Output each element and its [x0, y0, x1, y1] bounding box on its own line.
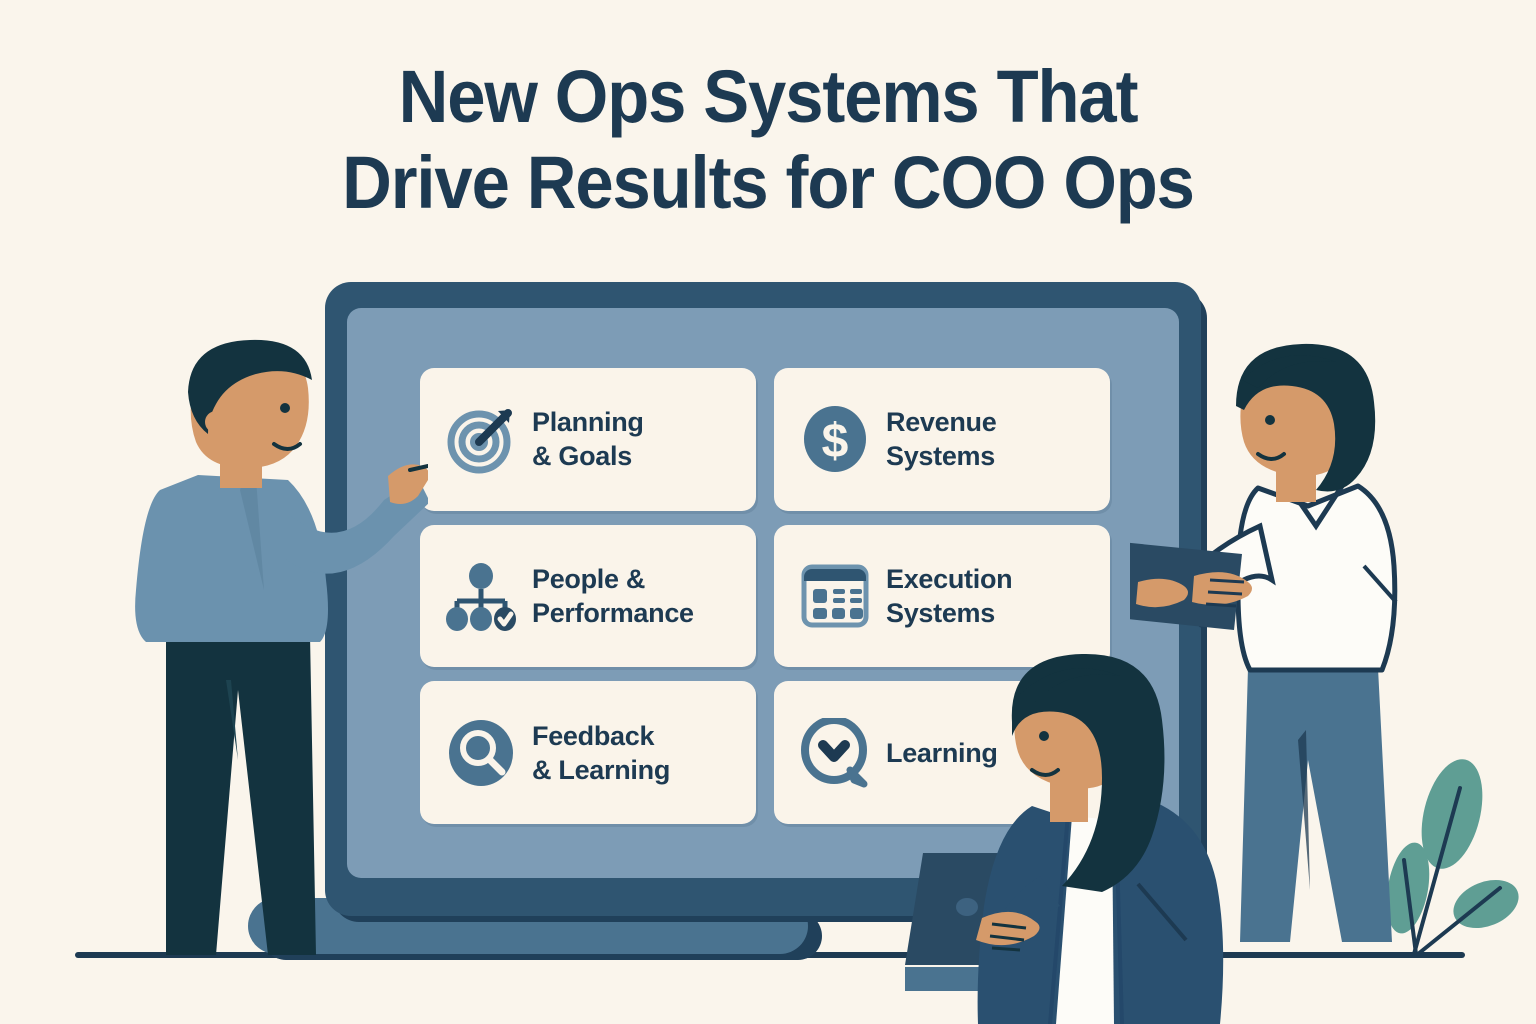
dollar-circle-icon: $ — [800, 404, 870, 474]
illustration-canvas: New Ops Systems That Drive Results for C… — [0, 0, 1536, 1024]
card-label: Execution Systems — [886, 562, 1012, 630]
card-label-line2: & Goals — [532, 439, 644, 473]
card-planning-goals[interactable]: Planning & Goals — [420, 368, 756, 511]
card-label-line1: People & — [532, 564, 645, 594]
card-label-line1: Feedback — [532, 721, 654, 751]
magnifier-circle-icon — [446, 718, 516, 788]
title-line-2: Drive Results for COO Ops — [54, 140, 1482, 226]
card-label-line2: Systems — [886, 596, 1012, 630]
card-label: Planning & Goals — [532, 405, 644, 473]
page-title: New Ops Systems That Drive Results for C… — [0, 54, 1536, 226]
card-feedback-learning[interactable]: Feedback & Learning — [420, 681, 756, 824]
card-label-line1: Planning — [532, 407, 644, 437]
kanban-board-icon — [800, 561, 870, 631]
title-line-1: New Ops Systems That — [54, 54, 1482, 140]
card-label: People & Performance — [532, 562, 694, 630]
svg-text:$: $ — [822, 415, 849, 468]
standing-man-pointing — [88, 330, 428, 970]
card-people-performance[interactable]: People & Performance — [420, 525, 756, 668]
card-label-line2: Performance — [532, 596, 694, 630]
card-label-line2: & Learning — [532, 753, 670, 787]
card-label-line1: Revenue — [886, 407, 996, 437]
speech-bubble-chevron-icon — [800, 718, 870, 788]
org-chart-check-icon — [446, 561, 516, 631]
card-label: Feedback & Learning — [532, 719, 670, 787]
seated-woman-laptop — [900, 640, 1290, 1024]
card-label-line1: Execution — [886, 564, 1012, 594]
target-arrow-icon — [446, 404, 516, 474]
card-label-line2: Systems — [886, 439, 996, 473]
card-revenue-systems[interactable]: $ Revenue Systems — [774, 368, 1110, 511]
card-label: Revenue Systems — [886, 405, 996, 473]
